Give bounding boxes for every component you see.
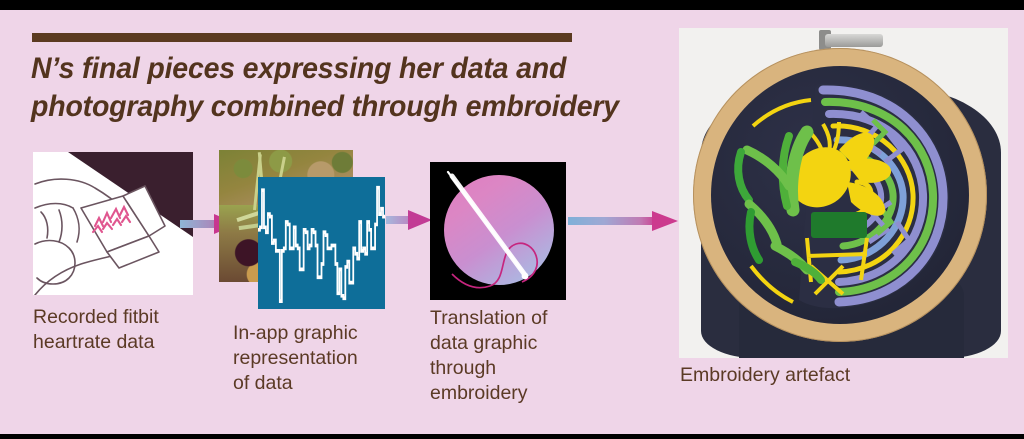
arrow-3 bbox=[568, 211, 680, 231]
needle-and-thread-illustration bbox=[430, 162, 566, 300]
poster-canvas: N’s final pieces expressing her data and… bbox=[0, 10, 1024, 434]
caption-fitbit-drawing: Recorded fitbit heartrate data bbox=[33, 305, 223, 355]
arrow-3-head bbox=[652, 211, 678, 231]
fitbit-hand-illustration bbox=[33, 152, 193, 295]
top-frame-bar bbox=[0, 0, 1024, 10]
arrow-2-head bbox=[408, 210, 432, 230]
heartrate-step-trace bbox=[258, 188, 385, 301]
arrow-3-shaft bbox=[568, 217, 658, 225]
thread-path bbox=[452, 243, 537, 287]
page-title-line-2: photography combined through embroidery bbox=[31, 88, 639, 126]
heartrate-step-chart bbox=[258, 177, 385, 309]
page-title: N’s final pieces expressing her data and… bbox=[31, 50, 639, 126]
figure-embroidery-artefact bbox=[679, 28, 1008, 358]
hoop-clamp bbox=[825, 34, 883, 47]
title-rule bbox=[32, 33, 572, 42]
embroidery-stitch-design bbox=[711, 66, 969, 324]
figure-fitbit-drawing bbox=[33, 152, 193, 295]
page-title-line-1: N’s final pieces expressing her data and bbox=[31, 50, 639, 88]
caption-data-graphic-translation: Translation of data graphic through embr… bbox=[430, 306, 600, 406]
caption-embroidery-artefact: Embroidery artefact bbox=[680, 363, 1000, 388]
embroidery-fabric bbox=[711, 66, 969, 324]
dark-green-block bbox=[811, 212, 867, 238]
needle bbox=[448, 172, 528, 279]
bottom-frame-bar bbox=[0, 434, 1024, 439]
arrow-2 bbox=[386, 210, 434, 230]
caption-in-app-graphic: In-app graphic representation of data bbox=[233, 321, 408, 396]
poster-root: N’s final pieces expressing her data and… bbox=[0, 0, 1024, 439]
figure-data-graphic-translation bbox=[430, 162, 566, 300]
figure-in-app-graphic bbox=[258, 177, 385, 309]
